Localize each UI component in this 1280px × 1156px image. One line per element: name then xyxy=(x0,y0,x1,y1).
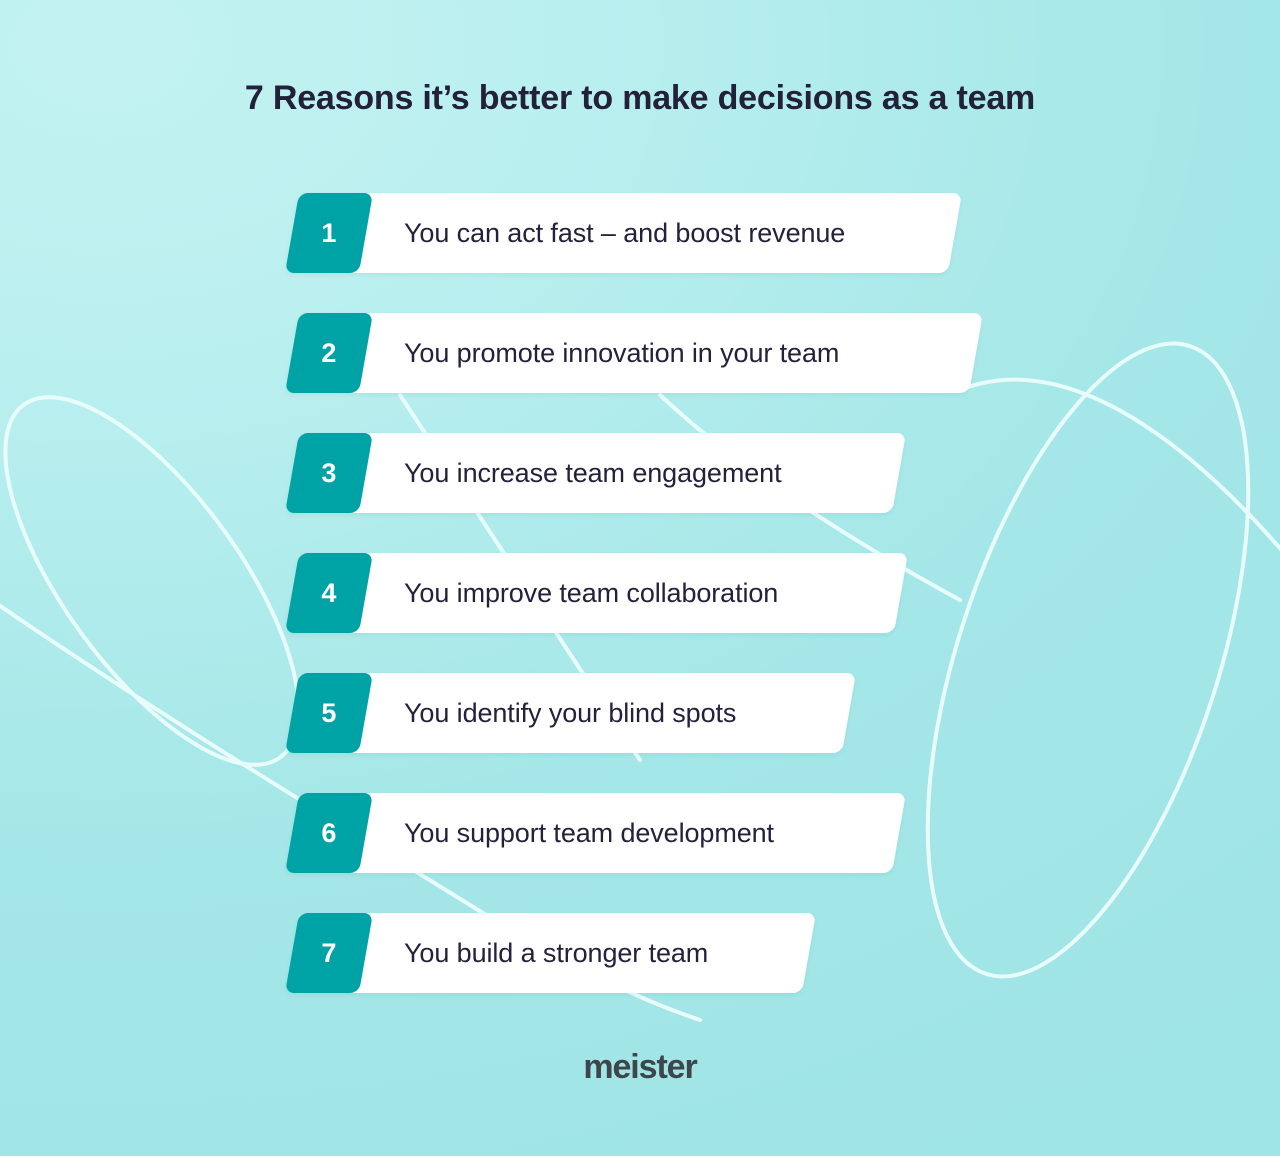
reason-text: You increase team engagement xyxy=(404,433,781,513)
reasons-list: 1You can act fast – and boost revenue2Yo… xyxy=(0,193,1280,1033)
reason-row[interactable]: 3You increase team engagement xyxy=(0,433,1280,513)
reason-number-label: 3 xyxy=(292,433,366,513)
reason-text: You identify your blind spots xyxy=(404,673,736,753)
reason-text: You build a stronger team xyxy=(404,913,708,993)
reason-number-label: 5 xyxy=(292,673,366,753)
reason-row[interactable]: 4You improve team collaboration xyxy=(0,553,1280,633)
reason-number-label: 7 xyxy=(292,913,366,993)
infographic-canvas: 7 Reasons it’s better to make decisions … xyxy=(0,0,1280,1156)
reason-row[interactable]: 1You can act fast – and boost revenue xyxy=(0,193,1280,273)
reason-number-label: 1 xyxy=(292,193,366,273)
reason-number-label: 4 xyxy=(292,553,366,633)
reason-text: You improve team collaboration xyxy=(404,553,778,633)
reason-row[interactable]: 2You promote innovation in your team xyxy=(0,313,1280,393)
reason-number-label: 6 xyxy=(292,793,366,873)
reason-number-label: 2 xyxy=(292,313,366,393)
page-title: 7 Reasons it’s better to make decisions … xyxy=(0,78,1280,119)
reason-row[interactable]: 5You identify your blind spots xyxy=(0,673,1280,753)
reason-row[interactable]: 7You build a stronger team xyxy=(0,913,1280,993)
reason-text: You promote innovation in your team xyxy=(404,313,839,393)
reason-row[interactable]: 6You support team development xyxy=(0,793,1280,873)
reason-text: You support team development xyxy=(404,793,774,873)
reason-text: You can act fast – and boost revenue xyxy=(404,193,845,273)
meister-logo: meister xyxy=(0,1048,1280,1087)
